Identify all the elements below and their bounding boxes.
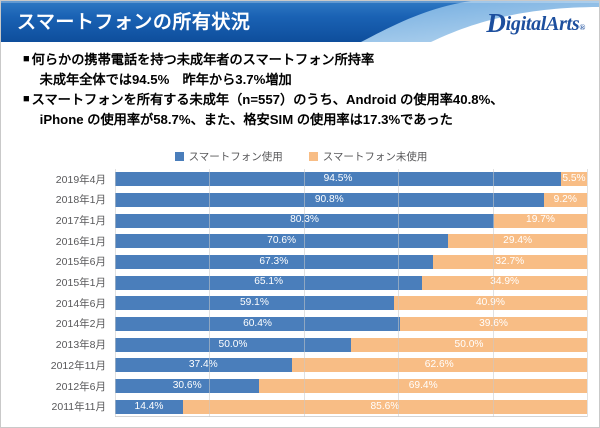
bar-value-label: 60.4% (243, 319, 272, 329)
bar-segment-unused: 62.6% (292, 358, 587, 372)
bar-value-label: 5.5% (562, 174, 585, 184)
bar-value-label: 9.2% (554, 195, 577, 205)
bar-value-label: 19.7% (526, 215, 555, 225)
logo-text: igitalArts (506, 13, 580, 35)
bar-value-label: 50.0% (219, 340, 248, 350)
bar-track: 94.5%5.5% (115, 172, 587, 186)
chart-row: 2011年11月14.4%85.6% (15, 397, 587, 417)
bullet-line-1: スマートフォンを所有する未成年（n=557）のうち、Android の使用率40… (32, 92, 504, 107)
bar-segment-used: 60.4% (115, 317, 400, 331)
category-label: 2013年8月 (15, 337, 115, 352)
bar-value-label: 32.7% (495, 257, 524, 267)
bar-value-label: 37.4% (189, 360, 218, 370)
bar-segment-unused: 9.2% (544, 193, 587, 207)
chart-axis-line (115, 416, 587, 417)
category-label: 2016年1月 (15, 234, 115, 249)
bar-value-label: 69.4% (409, 381, 438, 391)
legend-item-used: スマートフォン使用 (175, 149, 283, 164)
chart-row: 2015年6月67.3%32.7% (15, 252, 587, 272)
chart-legend: スマートフォン使用 スマートフォン未使用 (1, 149, 600, 164)
category-label: 2014年6月 (15, 296, 115, 311)
bar-value-label: 59.1% (240, 298, 269, 308)
category-label: 2018年1月 (15, 192, 115, 207)
bar-value-label: 34.9% (490, 277, 519, 287)
legend-label: スマートフォン使用 (189, 149, 283, 164)
bar-value-label: 85.6% (371, 402, 400, 412)
category-label: 2012年6月 (15, 379, 115, 394)
bar-segment-unused: 40.9% (394, 296, 587, 310)
bar-track: 80.3%19.7% (115, 214, 587, 228)
bullet-square-icon: ■ (23, 90, 30, 109)
bar-value-label: 67.3% (259, 257, 288, 267)
summary-bullets: ■ 何らかの携帯電話を持つ未成年者のスマートフォン所持率 未成年全体では94.5… (23, 50, 589, 130)
bar-segment-unused: 29.4% (448, 234, 587, 248)
chart-row: 2012年11月37.4%62.6% (15, 355, 587, 375)
bar-track: 67.3%32.7% (115, 255, 587, 269)
bar-value-label: 90.8% (315, 195, 344, 205)
bar-segment-used: 65.1% (115, 276, 422, 290)
bar-track: 37.4%62.6% (115, 358, 587, 372)
bar-track: 65.1%34.9% (115, 276, 587, 290)
bar-track: 30.6%69.4% (115, 379, 587, 393)
bullet-text: 何らかの携帯電話を持つ未成年者のスマートフォン所持率 未成年全体では94.5% … (32, 50, 374, 89)
bullet-square-icon: ■ (23, 50, 30, 69)
bar-segment-unused: 85.6% (183, 400, 587, 414)
category-label: 2019年4月 (15, 172, 115, 187)
legend-item-unused: スマートフォン未使用 (309, 149, 428, 164)
chart-row: 2016年1月70.6%29.4% (15, 231, 587, 251)
page-title: スマートフォンの所有状況 (17, 7, 250, 34)
bar-value-label: 29.4% (503, 236, 532, 246)
bar-segment-used: 59.1% (115, 296, 394, 310)
chart-row: 2018年1月90.8%9.2% (15, 190, 587, 210)
chart-gridline (398, 169, 399, 417)
chart-row: 2015年1月65.1%34.9% (15, 272, 587, 292)
chart-row: 2014年2月60.4%39.6% (15, 314, 587, 334)
category-label: 2017年1月 (15, 213, 115, 228)
bullet-line-2: iPhone の使用率が58.7%、また、格安SIM の使用率は17.3%であっ… (32, 110, 504, 130)
bar-segment-used: 30.6% (115, 379, 259, 393)
bar-value-label: 30.6% (173, 381, 202, 391)
chart-row: 2019年4月94.5%5.5% (15, 169, 587, 189)
bar-segment-unused: 5.5% (561, 172, 587, 186)
bar-value-label: 40.9% (476, 298, 505, 308)
logo-registered-icon: ® (579, 23, 585, 32)
chart-gridline (493, 169, 494, 417)
bar-track: 14.4%85.6% (115, 400, 587, 414)
chart-row: 2017年1月80.3%19.7% (15, 210, 587, 230)
chart-row: 2013年8月50.0%50.0% (15, 335, 587, 355)
bar-segment-used: 50.0% (115, 338, 351, 352)
bar-segment-unused: 19.7% (494, 214, 587, 228)
slide-page: スマートフォンの所有状況 DigitalArts® ■ 何らかの携帯電話を持つ未… (0, 0, 600, 428)
chart-gridline (304, 169, 305, 417)
bar-segment-used: 37.4% (115, 358, 292, 372)
bar-value-label: 65.1% (254, 277, 283, 287)
chart-gridline (209, 169, 210, 417)
chart-row: 2012年6月30.6%69.4% (15, 376, 587, 396)
bar-track: 50.0%50.0% (115, 338, 587, 352)
chart-row: 2014年6月59.1%40.9% (15, 293, 587, 313)
bar-value-label: 62.6% (425, 360, 454, 370)
bar-segment-used: 94.5% (115, 172, 561, 186)
category-label: 2011年11月 (15, 399, 115, 414)
bar-track: 70.6%29.4% (115, 234, 587, 248)
bullet-line-2: 未成年全体では94.5% 昨年から3.7%増加 (32, 70, 374, 90)
bar-segment-unused: 50.0% (351, 338, 587, 352)
category-label: 2015年1月 (15, 275, 115, 290)
bar-value-label: 70.6% (267, 236, 296, 246)
bar-segment-used: 67.3% (115, 255, 433, 269)
bullet-item: ■ 何らかの携帯電話を持つ未成年者のスマートフォン所持率 未成年全体では94.5… (23, 50, 589, 89)
chart-gridline (587, 169, 588, 417)
category-label: 2014年2月 (15, 316, 115, 331)
logo-initial-icon: D (486, 8, 505, 38)
bar-segment-unused: 32.7% (433, 255, 587, 269)
bullet-text: スマートフォンを所有する未成年（n=557）のうち、Android の使用率40… (32, 90, 504, 129)
chart-gridline (115, 169, 116, 417)
bar-segment-used: 14.4% (115, 400, 183, 414)
bar-segment-unused: 69.4% (259, 379, 587, 393)
bar-value-label: 14.4% (135, 402, 164, 412)
bar-track: 90.8%9.2% (115, 193, 587, 207)
digital-arts-logo: DigitalArts® (486, 13, 585, 36)
bar-value-label: 94.5% (324, 174, 353, 184)
bullet-item: ■ スマートフォンを所有する未成年（n=557）のうち、Android の使用率… (23, 90, 589, 129)
category-label: 2015年6月 (15, 254, 115, 269)
bar-value-label: 50.0% (455, 340, 484, 350)
bullet-line-1: 何らかの携帯電話を持つ未成年者のスマートフォン所持率 (32, 52, 374, 67)
bar-segment-unused: 34.9% (422, 276, 587, 290)
legend-label: スマートフォン未使用 (323, 149, 428, 164)
bar-track: 60.4%39.6% (115, 317, 587, 331)
category-label: 2012年11月 (15, 358, 115, 373)
stacked-bar-chart: 2019年4月94.5%5.5%2018年1月90.8%9.2%2017年1月8… (15, 169, 587, 417)
legend-swatch-icon (175, 152, 184, 161)
bar-track: 59.1%40.9% (115, 296, 587, 310)
legend-swatch-icon (309, 152, 318, 161)
bar-segment-used: 90.8% (115, 193, 544, 207)
